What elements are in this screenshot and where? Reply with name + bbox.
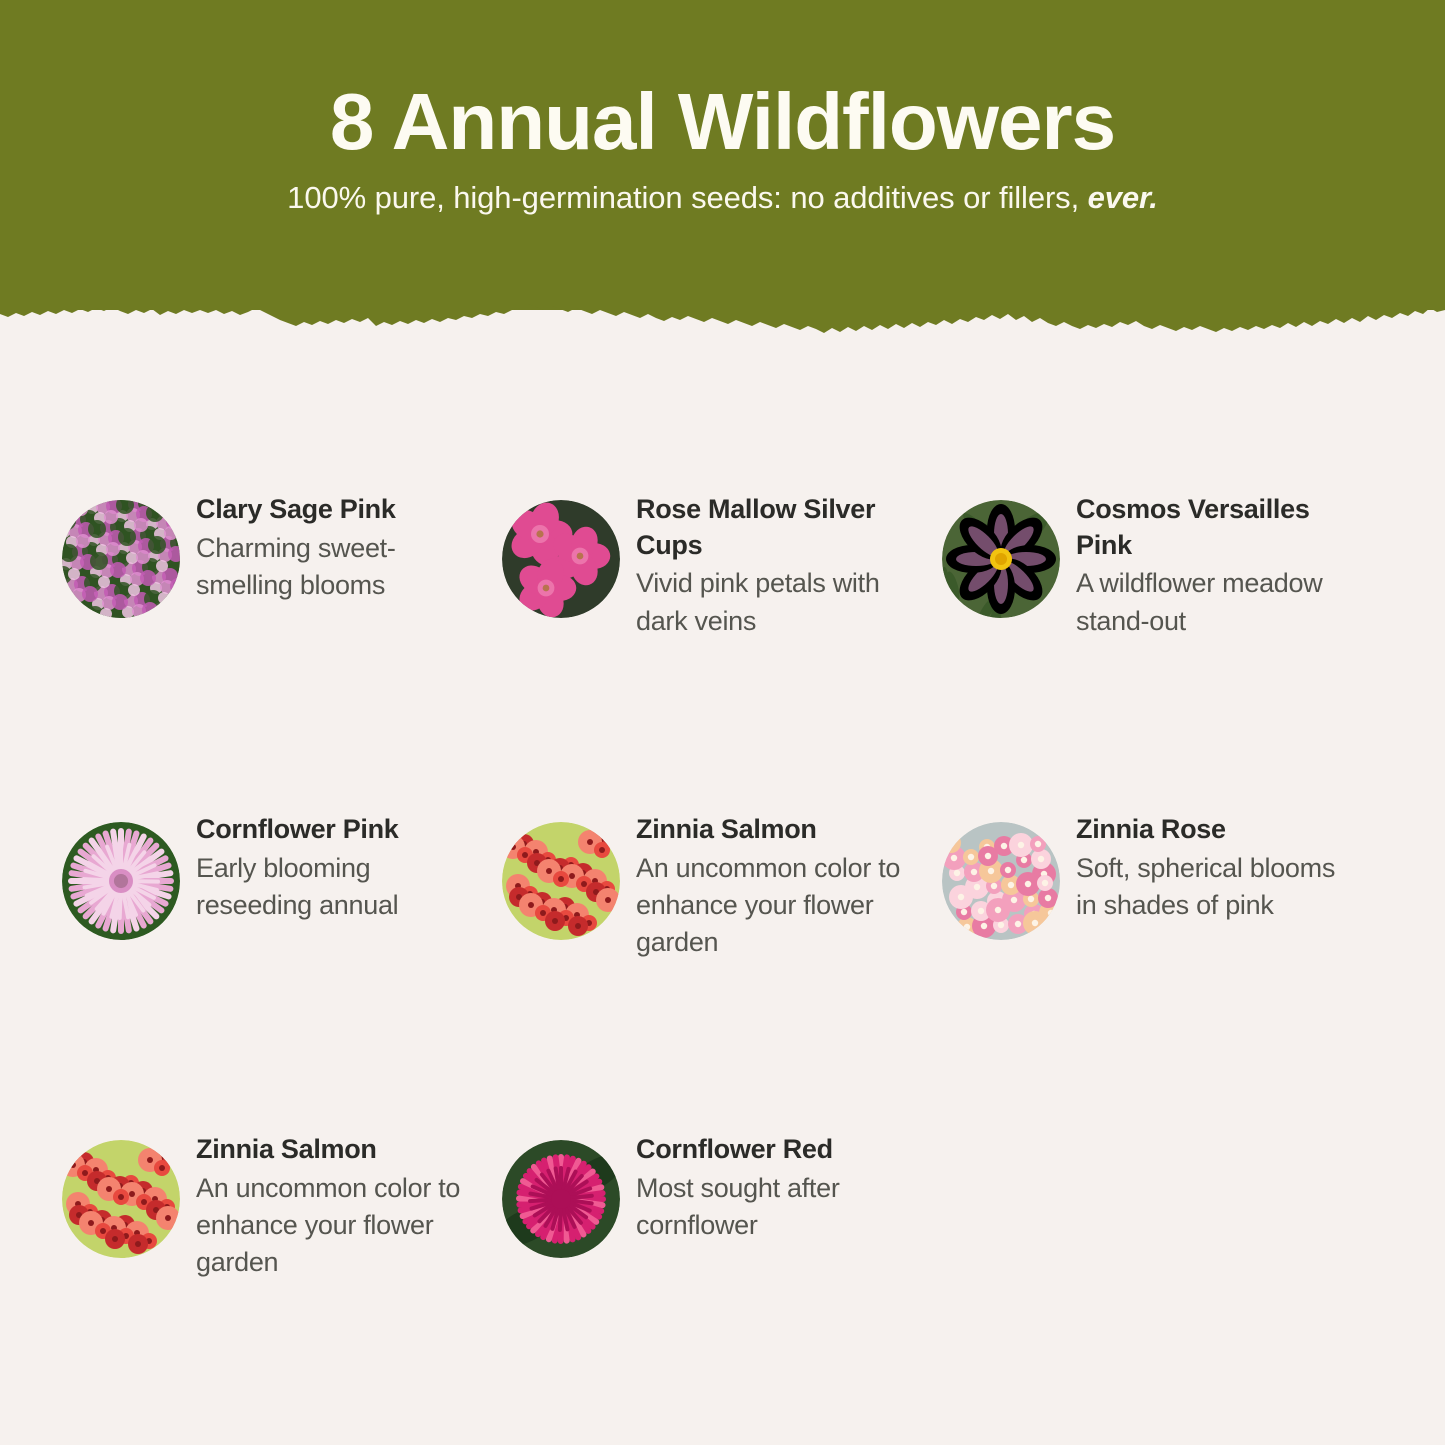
flower-name: Zinnia Salmon bbox=[636, 812, 908, 848]
torn-paper-edge bbox=[0, 296, 1445, 336]
subtitle-lead-text: 100% pure, high-germination seeds: no ad… bbox=[287, 180, 1079, 215]
flower-card[interactable]: Cosmos Versailles PinkA wildflower meado… bbox=[942, 470, 1382, 790]
flower-name: Cosmos Versailles Pink bbox=[1076, 492, 1348, 563]
cornflower-pink-photo bbox=[62, 822, 180, 940]
flower-card[interactable]: Zinnia RoseSoft, spherical blooms in sha… bbox=[942, 790, 1382, 1110]
page-subtitle: 100% pure, high-germination seeds: no ad… bbox=[0, 180, 1445, 216]
flower-text-block: Cosmos Versailles PinkA wildflower meado… bbox=[1076, 470, 1348, 640]
flower-text-block: Zinnia RoseSoft, spherical blooms in sha… bbox=[1076, 790, 1348, 924]
subtitle-emphasis-text: ever. bbox=[1088, 180, 1158, 215]
flower-card[interactable]: Cornflower RedMost sought after cornflow… bbox=[502, 1110, 942, 1430]
flower-name: Zinnia Salmon bbox=[196, 1132, 468, 1168]
zinnia-salmon-photo-2 bbox=[62, 1140, 180, 1258]
flower-description: Soft, spherical blooms in shades of pink bbox=[1076, 850, 1348, 925]
zinnia-salmon-photo bbox=[502, 822, 620, 940]
flower-text-block: Cornflower RedMost sought after cornflow… bbox=[636, 1110, 908, 1244]
flower-description: An uncommon color to enhance your flower… bbox=[636, 850, 908, 962]
zinnia-rose-photo bbox=[942, 822, 1060, 940]
flower-card[interactable]: Cornflower PinkEarly blooming reseeding … bbox=[62, 790, 502, 1110]
flower-name: Rose Mallow Silver Cups bbox=[636, 492, 908, 563]
flower-description: Charming sweet-smelling blooms bbox=[196, 530, 468, 605]
flower-card[interactable]: Zinnia SalmonAn uncommon color to enhanc… bbox=[62, 1110, 502, 1430]
flower-name: Zinnia Rose bbox=[1076, 812, 1348, 848]
flower-description: A wildflower meadow stand-out bbox=[1076, 565, 1348, 640]
flower-text-block: Rose Mallow Silver CupsVivid pink petals… bbox=[636, 470, 908, 640]
flower-card[interactable]: Clary Sage PinkCharming sweet-smelling b… bbox=[62, 470, 502, 790]
flower-text-block: Zinnia SalmonAn uncommon color to enhanc… bbox=[196, 1110, 468, 1281]
flower-name: Clary Sage Pink bbox=[196, 492, 468, 528]
flower-description: Early blooming reseeding annual bbox=[196, 850, 468, 925]
flower-description: An uncommon color to enhance your flower… bbox=[196, 1170, 468, 1282]
flower-description: Vivid pink petals with dark veins bbox=[636, 565, 908, 640]
flower-text-block: Cornflower PinkEarly blooming reseeding … bbox=[196, 790, 468, 924]
header-banner: 8 Annual Wildflowers 100% pure, high-ger… bbox=[0, 0, 1445, 336]
flower-grid: Clary Sage PinkCharming sweet-smelling b… bbox=[0, 470, 1445, 1430]
flower-card[interactable]: Zinnia SalmonAn uncommon color to enhanc… bbox=[502, 790, 942, 1110]
cosmos-versailles-pink-photo bbox=[942, 500, 1060, 618]
flower-name: Cornflower Red bbox=[636, 1132, 908, 1168]
cornflower-red-photo bbox=[502, 1140, 620, 1258]
flower-card[interactable]: Rose Mallow Silver CupsVivid pink petals… bbox=[502, 470, 942, 790]
header-text-block: 8 Annual Wildflowers 100% pure, high-ger… bbox=[0, 0, 1445, 300]
page-title: 8 Annual Wildflowers bbox=[0, 80, 1445, 164]
rose-mallow-silver-cups-photo bbox=[502, 500, 620, 618]
flower-description: Most sought after cornflower bbox=[636, 1170, 908, 1245]
flower-text-block: Zinnia SalmonAn uncommon color to enhanc… bbox=[636, 790, 908, 961]
clary-sage-pink-photo bbox=[62, 500, 180, 618]
flower-name: Cornflower Pink bbox=[196, 812, 468, 848]
flower-text-block: Clary Sage PinkCharming sweet-smelling b… bbox=[196, 470, 468, 604]
